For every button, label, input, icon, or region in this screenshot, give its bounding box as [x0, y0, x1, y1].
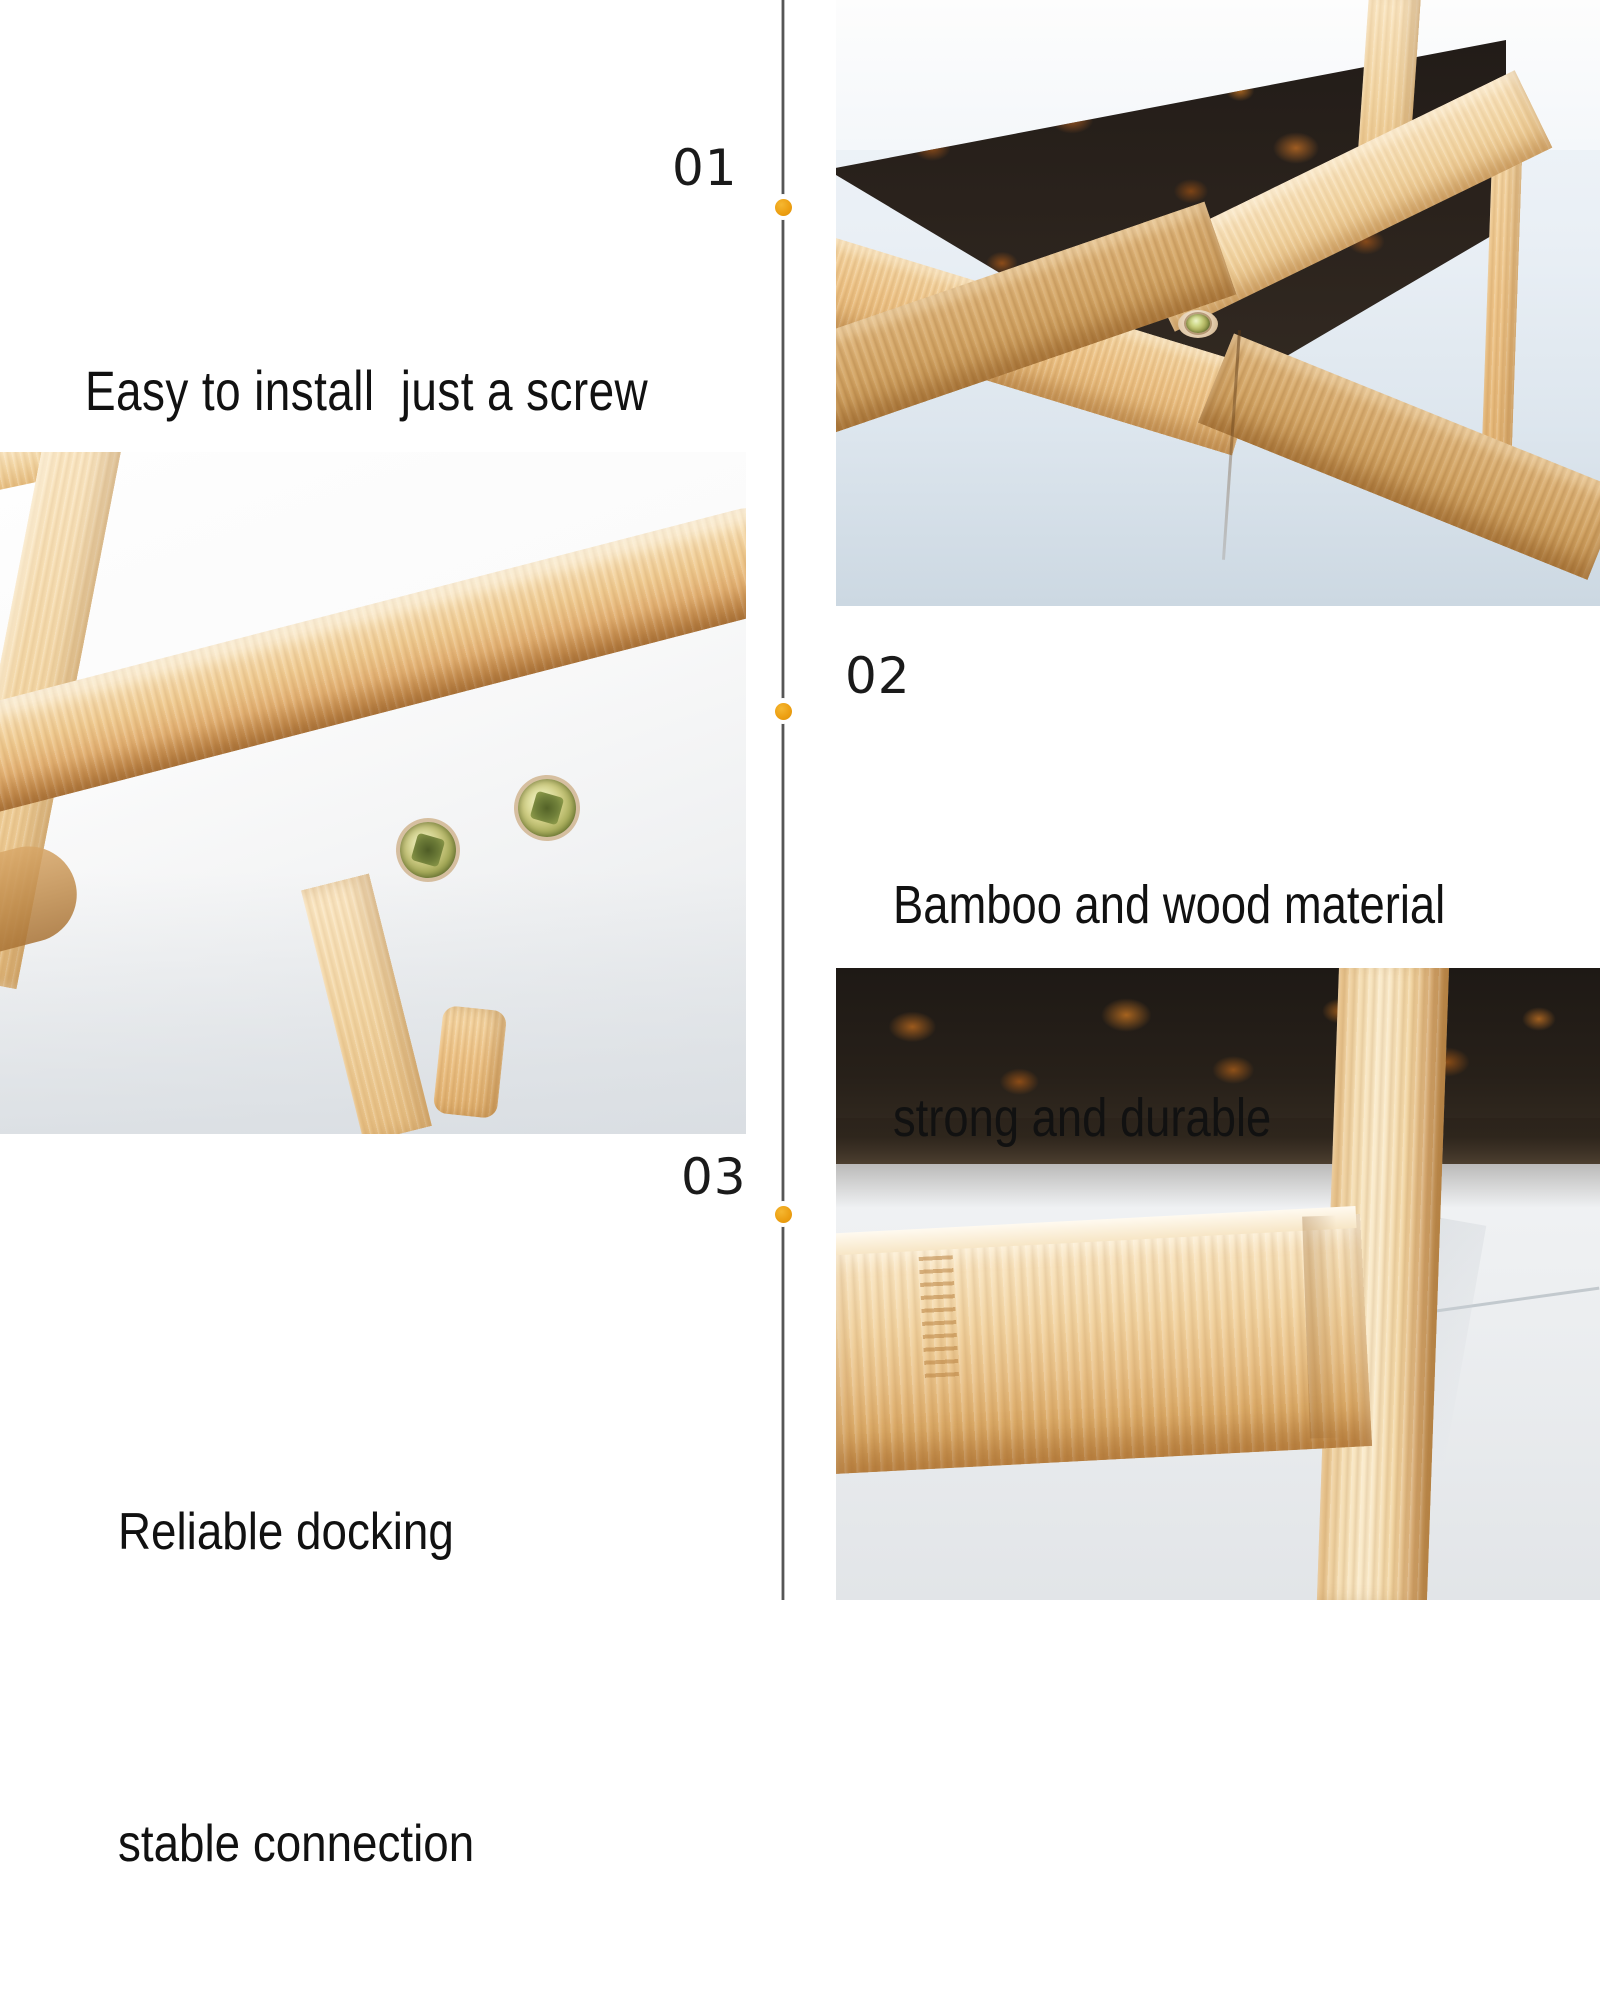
- step-number-01: 01: [672, 143, 738, 193]
- step-number-02: 02: [845, 651, 911, 701]
- step-number-03: 03: [681, 1152, 747, 1202]
- screw-head: [1186, 314, 1210, 333]
- step-caption-01-line-1: Easy to install just a screw: [85, 358, 648, 423]
- step-caption-02-line-2: strong and durable: [893, 1083, 1445, 1154]
- photo-screws-bar: [0, 452, 746, 1134]
- step-caption-03: Reliable docking stable connection: [118, 1272, 474, 2000]
- step-caption-02: Bamboo and wood material strong and dura…: [893, 727, 1445, 1226]
- step-caption-02-line-1: Bamboo and wood material: [893, 870, 1445, 941]
- timeline-dot-02: [770, 698, 796, 724]
- timeline-dot-01: [770, 194, 796, 220]
- photo-cross-joint: [836, 0, 1600, 606]
- timeline-divider: [781, 0, 785, 1600]
- step-caption-03-line-1: Reliable docking: [118, 1480, 474, 1584]
- timeline-dot-03: [770, 1201, 796, 1227]
- step-caption-01: Easy to install just a screw: [85, 228, 648, 488]
- step-caption-03-line-2: stable connection: [118, 1792, 474, 1896]
